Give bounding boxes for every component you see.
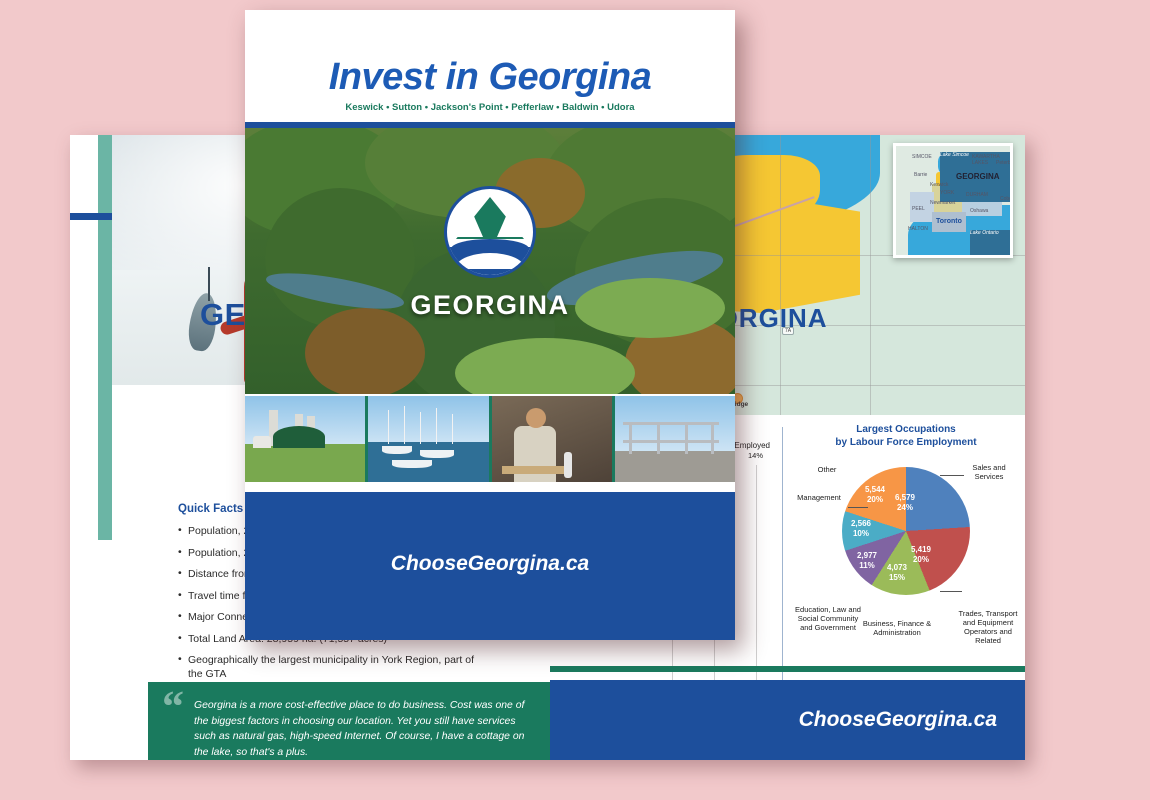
cover-footer-url[interactable]: ChooseGeorgina.ca: [245, 552, 735, 576]
cover-footer-band: ChooseGeorgina.ca: [245, 492, 735, 640]
inset-label-cobourg: Cobourg: [1000, 196, 1013, 202]
inset-label-keswick: Keswick: [930, 182, 948, 188]
logo-notch-right: [497, 207, 523, 237]
sailboat-mast: [420, 412, 421, 444]
inset-label-peterborough: Peterborough: [996, 160, 1013, 166]
slice-percent: 15%: [889, 573, 905, 582]
boat-hull: [420, 450, 454, 458]
pie-label-business: Business, Finance & Administration: [862, 619, 932, 637]
spread-footer-green-rule: [550, 666, 1025, 672]
sailboat-mast: [452, 414, 453, 444]
inset-label-halton: HALTON: [908, 226, 928, 232]
steel-column: [657, 422, 660, 454]
steel-beam: [623, 422, 719, 425]
inset-label-peel: PEEL: [912, 206, 925, 212]
pie-label-other: Other: [806, 465, 848, 474]
slice-percent: 11%: [859, 561, 875, 570]
steel-beam: [623, 440, 719, 443]
testimonial-quote-box: “ ” Georgina is a more cost-effective pl…: [148, 682, 550, 760]
pie-chart-title-line1: Largest Occupations: [790, 423, 1022, 436]
ground-layer: [615, 451, 735, 482]
slice-percent: 24%: [897, 503, 913, 512]
farmhouse-shape: [253, 436, 271, 448]
inset-label-york: YORK: [940, 190, 954, 196]
pie-slice-value-trades: 5,419 20%: [898, 545, 944, 565]
sailboat-mast: [404, 406, 405, 444]
logo-notch-left: [457, 207, 483, 237]
slice-value: 2,977: [857, 551, 877, 560]
aerial-landscape-photo: GEORGINA: [245, 128, 735, 394]
boat-hull: [382, 446, 412, 454]
inset-label-simcoe: SIMCOE: [912, 154, 932, 160]
brochure-mockup-stage: GEORGINA Quick Facts about Georgina: Pop…: [0, 0, 1150, 800]
worker-head: [526, 408, 546, 428]
inset-label-georgina: GEORGINA: [956, 172, 1000, 181]
cover-white-rule: [245, 482, 735, 492]
leader-line: [940, 591, 962, 592]
woodworker-photo: [492, 396, 612, 482]
list-item: Geographically the largest municipality …: [178, 653, 478, 681]
leader-line: [940, 475, 964, 476]
lumber-plank: [502, 466, 572, 474]
spread-footer-url[interactable]: ChooseGeorgina.ca: [799, 708, 997, 732]
inset-label-durham: DURHAM: [966, 192, 988, 198]
inset-label-newmarket: Newmarket: [930, 200, 955, 206]
pie-label-education: Education, Law and Social Community and …: [794, 605, 862, 632]
slice-percent: 10%: [853, 529, 869, 538]
slice-value: 2,566: [851, 519, 871, 528]
pie-slice-value-other: 5,544 20%: [852, 485, 898, 505]
inset-label-barrie: Barrie: [914, 172, 927, 178]
marina-boats-photo: [368, 396, 488, 482]
georgina-logo: [444, 186, 536, 278]
pie-label-management: Management: [790, 493, 848, 502]
open-quote-icon: “: [162, 692, 184, 723]
sky-layer: [368, 396, 488, 446]
pie-slice-value-education: 2,977 11%: [844, 551, 890, 571]
fishing-line: [208, 267, 210, 301]
map-gridline: [780, 135, 781, 415]
inset-label-toronto: Toronto: [936, 218, 962, 225]
brochure-cover-page[interactable]: Invest in Georgina Keswick • Sutton • Ja…: [245, 10, 735, 640]
sailboat-mast: [436, 408, 437, 444]
glue-bottle: [564, 452, 572, 478]
inset-label-oshawa: Oshawa: [970, 208, 988, 214]
steel-column: [629, 422, 632, 454]
construction-steel-photo: [615, 396, 735, 482]
pie-slice-value-management: 2,566 10%: [838, 519, 884, 539]
cover-logo-wordmark: GEORGINA: [245, 290, 735, 321]
barn-shape: [273, 426, 325, 448]
boat-hull: [392, 460, 432, 468]
pie-label-trades: Trades, Transport and Equipment Operator…: [956, 609, 1020, 645]
map-gridline: [870, 135, 871, 415]
slice-value: 5,419: [911, 545, 931, 554]
steel-column: [685, 422, 688, 454]
leader-line: [848, 507, 868, 508]
teal-accent-bar: [98, 135, 112, 540]
slice-value: 5,544: [865, 485, 885, 494]
quote-text: Georgina is a more cost-effective place …: [194, 698, 528, 760]
cover-subtitle: Keswick • Sutton • Jackson's Point • Pef…: [245, 102, 735, 113]
farm-silos-photo: [245, 396, 365, 482]
regional-inset-map[interactable]: SIMCOE Lake Simcoe KAWARTHA LAKES Peterb…: [893, 143, 1013, 258]
inset-label-lake-ontario: Lake Ontario: [970, 230, 1013, 258]
slice-percent: 20%: [867, 495, 883, 504]
steel-column: [711, 422, 714, 454]
cover-title: Invest in Georgina: [245, 56, 735, 99]
pie-chart-title-line2: by Labour Force Employment: [790, 436, 1022, 449]
cover-photo-strip: [245, 396, 735, 482]
grass-layer: [245, 444, 365, 482]
pie-label-sales: Sales and Services: [958, 463, 1020, 481]
blue-accent-bar: [70, 213, 112, 220]
sailboat-mast: [388, 410, 389, 444]
axis-tick: 14%: [748, 451, 763, 460]
